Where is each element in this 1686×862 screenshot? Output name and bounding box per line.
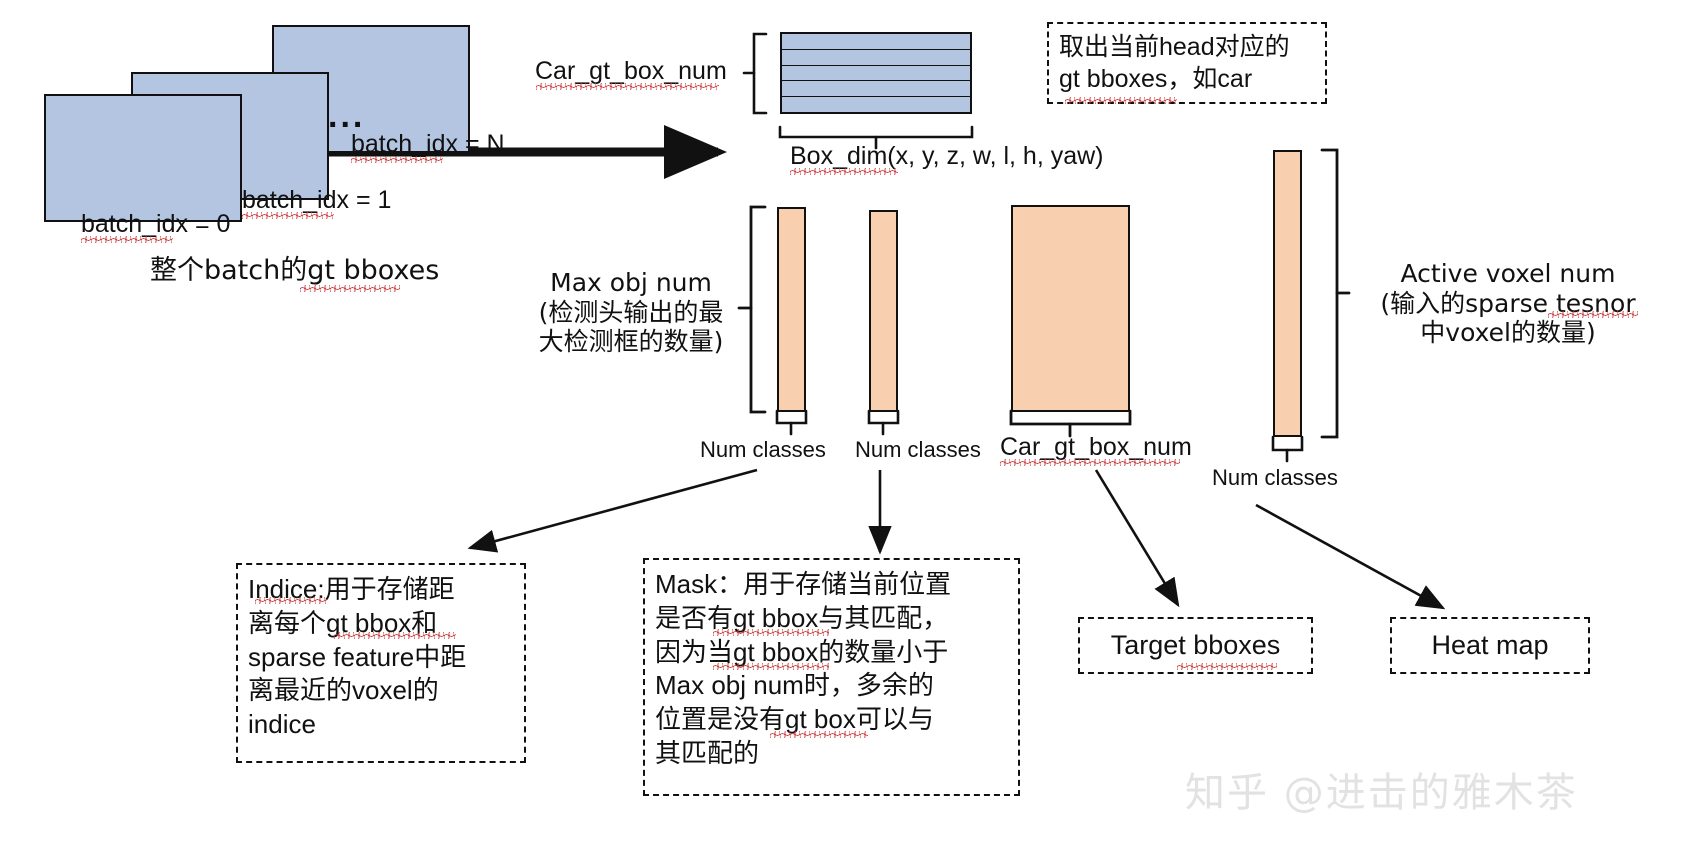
mask-output-box: Mask：用于存储当前位置 是否有gt bbox与其匹配， 因为当gt bbox… <box>643 558 1020 796</box>
arrow-to-indice <box>470 470 757 548</box>
max-obj-num-bracket <box>739 207 765 412</box>
batch-idx-n-label: batch_idx = N <box>351 130 505 160</box>
bar1-brace <box>777 411 806 434</box>
heatmap-bar <box>1273 150 1302 437</box>
heat-map-output-box: Heat map <box>1390 617 1590 674</box>
diagram-canvas: ... batch_idx = N batch_idx = 1 batch_id… <box>0 0 1686 862</box>
batch-ellipsis: ... <box>328 99 365 133</box>
arrow-to-target <box>1096 470 1178 605</box>
bar4-brace <box>1273 437 1302 461</box>
matrix-row <box>782 97 970 112</box>
watermark: 知乎 @进击的雅木茶 <box>1185 760 1578 818</box>
indice-bar-bottom-label: Num classes <box>700 437 826 463</box>
matrix-row-brace <box>744 34 766 113</box>
batch-plane-0 <box>44 94 242 222</box>
active-voxel-bracket <box>1322 150 1349 437</box>
target-bar-bottom-label: Car_gt_box_num <box>1000 433 1192 463</box>
gt-box-matrix <box>780 32 972 114</box>
batch-idx-1-label: batch_idx = 1 <box>242 186 391 216</box>
target-bboxes-output-text: Target bboxes <box>1101 628 1291 663</box>
heatmap-bar-bottom-label: Num classes <box>1212 465 1338 491</box>
matrix-col-label: Box_dim(x, y, z, w, l, h, yaw) <box>790 142 1104 172</box>
mask-output-text: Mask：用于存储当前位置 是否有gt bbox与其匹配， 因为当gt bbox… <box>645 560 961 771</box>
mask-bar-bottom-label: Num classes <box>855 437 981 463</box>
matrix-row <box>782 34 970 50</box>
matrix-row <box>782 66 970 82</box>
heat-map-output-text: Heat map <box>1421 628 1558 663</box>
active-voxel-num-label: Active voxel num (输入的sparse tesnor 中voxe… <box>1358 259 1658 348</box>
note-head-box: 取出当前head对应的 gt bboxes，如car <box>1047 22 1327 104</box>
target-bboxes-bar <box>1011 205 1130 412</box>
matrix-row <box>782 50 970 66</box>
matrix-row <box>782 81 970 97</box>
indice-output-text: Indice:用于存储距 离每个gt bbox和 sparse feature中… <box>238 565 476 742</box>
indice-bar <box>777 207 806 412</box>
target-bboxes-output-box: Target bboxes <box>1078 617 1313 674</box>
matrix-row-label: Car_gt_box_num <box>535 57 727 87</box>
batch-idx-0-label: batch_idx = 0 <box>81 210 230 240</box>
bar2-brace <box>869 411 898 434</box>
note-head-text: 取出当前head对应的 gt bboxes，如car <box>1049 31 1300 96</box>
batch-caption: 整个batch的gt bboxes <box>150 255 439 287</box>
max-obj-num-label: Max obj num (检测头输出的最 大检测框的数量) <box>526 268 736 357</box>
indice-output-box: Indice:用于存储距 离每个gt bbox和 sparse feature中… <box>236 563 526 763</box>
arrow-to-heatmap <box>1256 505 1443 608</box>
mask-bar <box>869 210 898 412</box>
